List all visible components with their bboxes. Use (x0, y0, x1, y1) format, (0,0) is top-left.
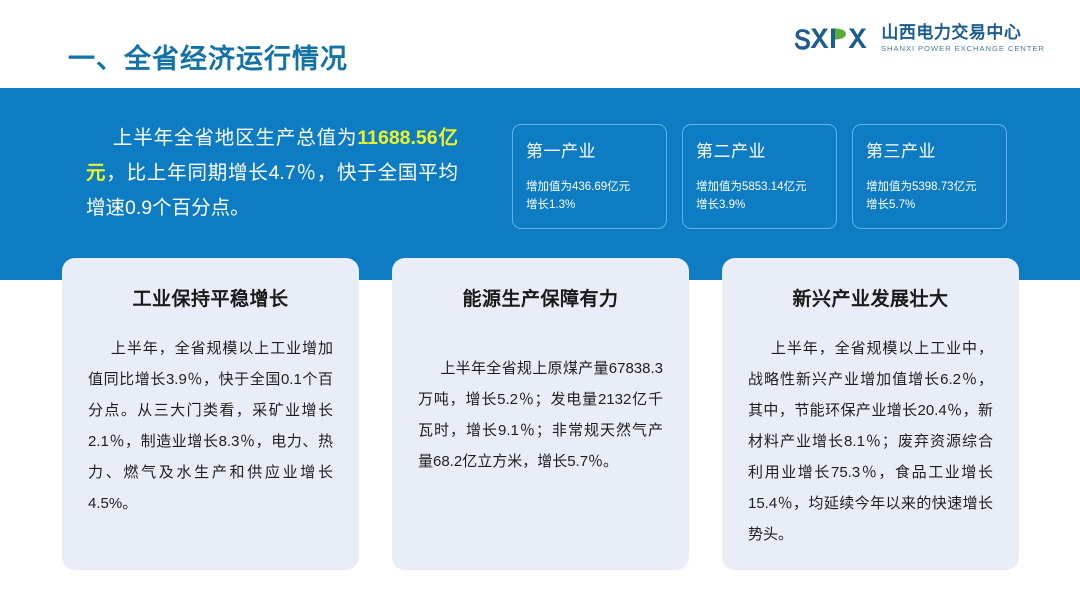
summary-banner: 上半年全省地区生产总值为11688.56亿元，比上年同期增长4.7％，快于全国平… (0, 88, 1080, 280)
card-energy-production: 能源生产保障有力 上半年全省规上原煤产量67838.3万吨，增长5.2％；发电量… (392, 258, 689, 570)
card-emerging-industries: 新兴产业发展壮大 上半年，全省规模以上工业中，战略性新兴产业增加值增长6.2％，… (722, 258, 1019, 570)
sxpx-logomark-icon (794, 25, 872, 51)
banner-lead-prefix: 上半年全省地区生产总值为 (112, 127, 357, 149)
stat-box-title: 第二产业 (696, 137, 823, 162)
logo-name-cn: 山西电力交易中心 (881, 24, 1042, 41)
stat-box-secondary-industry: 第二产业 增加值为5853.14亿元 增长3.9% (682, 124, 837, 229)
highlight-cards: 工业保持平稳增长 上半年，全省规模以上工业增加值同比增长3.9％，快于全国0.1… (62, 258, 1020, 570)
card-title: 能源生产保障有力 (418, 284, 663, 311)
card-title: 工业保持平稳增长 (88, 284, 333, 311)
stat-box-title: 第三产业 (866, 137, 993, 162)
card-body: 上半年全省规上原煤产量67838.3万吨，增长5.2％；发电量2132亿千瓦时，… (418, 353, 663, 477)
card-industrial-growth: 工业保持平稳增长 上半年，全省规模以上工业增加值同比增长3.9％，快于全国0.1… (62, 258, 359, 570)
stat-box-value: 增加值为5853.14亿元 (696, 178, 823, 196)
stat-box-tertiary-industry: 第三产业 增加值为5398.73亿元 增长5.7% (852, 124, 1007, 229)
brand-logo: 山西电力交易中心 SHANXI POWER EXCHANGE CENTER (794, 24, 1042, 53)
stat-box-growth: 增长1.3% (526, 196, 653, 214)
page-title: 一、全省经济运行情况 (68, 37, 348, 76)
stat-box-growth: 增长5.7% (866, 196, 993, 214)
card-body: 上半年，全省规模以上工业增加值同比增长3.9％，快于全国0.1个百分点。从三大门… (88, 333, 333, 519)
card-title: 新兴产业发展壮大 (748, 284, 993, 311)
banner-lead-text: 上半年全省地区生产总值为11688.56亿元，比上年同期增长4.7％，快于全国平… (86, 121, 458, 226)
stat-box-title: 第一产业 (526, 137, 653, 162)
logo-wordmark: 山西电力交易中心 SHANXI POWER EXCHANGE CENTER (881, 24, 1042, 53)
logo-name-en: SHANXI POWER EXCHANGE CENTER (881, 45, 1045, 53)
page-header: 一、全省经济运行情况 山西电力交易中心 SHANXI POWER EXCHANG… (0, 0, 1080, 88)
card-body-text: 上半年，全省规模以上工业增加值同比增长3.9％，快于全国0.1个百分点。从三大门… (88, 340, 333, 512)
stat-box-value: 增加值为436.69亿元 (526, 178, 653, 196)
card-body-text: 上半年，全省规模以上工业中，战略性新兴产业增加值增长6.2％，其中，节能环保产业… (748, 340, 993, 543)
card-body-text: 上半年全省规上原煤产量67838.3万吨，增长5.2％；发电量2132亿千瓦时，… (418, 360, 663, 470)
industry-stat-boxes: 第一产业 增加值为436.69亿元 增长1.3% 第二产业 增加值为5853.1… (512, 124, 1007, 229)
banner-lead-suffix: ，比上年同期增长4.7％，快于全国平均增速0.9个百分点。 (86, 162, 458, 219)
card-body: 上半年，全省规模以上工业中，战略性新兴产业增加值增长6.2％，其中，节能环保产业… (748, 333, 993, 550)
stat-box-value: 增加值为5398.73亿元 (866, 178, 993, 196)
stat-box-growth: 增长3.9% (696, 196, 823, 214)
stat-box-primary-industry: 第一产业 增加值为436.69亿元 增长1.3% (512, 124, 667, 229)
